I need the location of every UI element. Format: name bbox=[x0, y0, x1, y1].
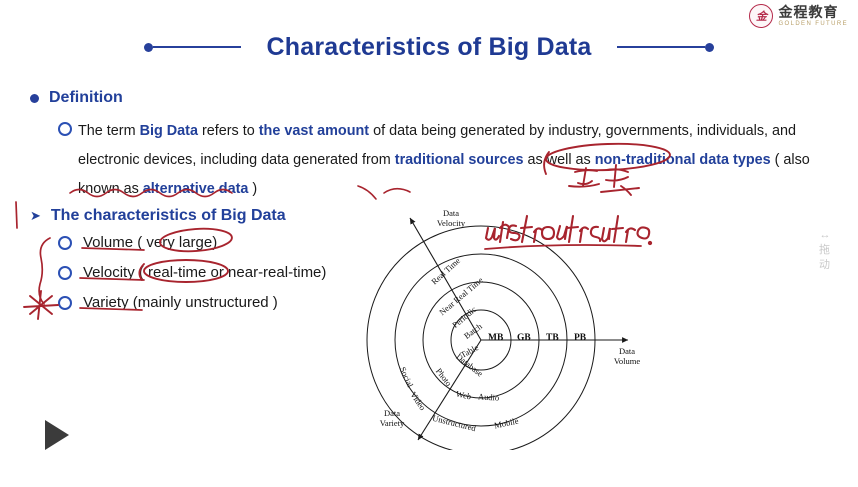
characteristics-heading: ➤ The characteristics of Big Data bbox=[30, 207, 286, 225]
definition-text: refers to bbox=[198, 123, 259, 139]
definition-text: The term bbox=[78, 123, 140, 139]
volume-tick-mb: MB bbox=[488, 333, 503, 343]
drag-arrows-icon: ↔ bbox=[819, 228, 830, 243]
list-item: Velocity ( real-time or near-real-time) bbox=[58, 264, 326, 281]
brand-logo: 金 金程教育 GOLDEN FUTURE bbox=[749, 4, 848, 28]
characteristics-heading-label: The characteristics of Big Data bbox=[51, 207, 286, 225]
bullet-ring-icon-definition bbox=[58, 122, 72, 136]
arrow-bullet-icon: ➤ bbox=[30, 208, 41, 224]
drag-label-1: 拖 bbox=[819, 243, 830, 258]
bullet-ring-icon bbox=[58, 236, 72, 250]
definition-emphasis: alternative data bbox=[143, 181, 249, 197]
list-item-label: Velocity ( real-time or near-real-time) bbox=[83, 264, 326, 281]
ink-bracket-left bbox=[16, 202, 17, 228]
variety-ring-audio: Audio bbox=[478, 391, 500, 402]
brand-name-cn: 金程教育 bbox=[778, 5, 848, 19]
bullet-ring-icon bbox=[58, 296, 72, 310]
definition-heading: Definition bbox=[30, 89, 123, 107]
page-title-row: Characteristics of Big Data bbox=[0, 28, 858, 66]
axis-label-volume: Data Volume bbox=[606, 346, 648, 366]
volume-tick-tb: TB bbox=[546, 333, 559, 343]
definition-text: ) bbox=[248, 181, 257, 197]
drag-handle[interactable]: ↔ 拖 动 bbox=[819, 228, 830, 273]
bullet-disc-icon bbox=[30, 94, 39, 103]
definition-emphasis: Big Data bbox=[140, 123, 198, 139]
definition-heading-label: Definition bbox=[49, 89, 123, 107]
volume-tick-pb: PB bbox=[574, 333, 586, 343]
list-item: Variety (mainly unstructured ) bbox=[58, 294, 278, 311]
definition-emphasis: traditional sources bbox=[395, 152, 524, 168]
brand-seal-icon: 金 bbox=[749, 4, 773, 28]
slide-canvas: 金 金程教育 GOLDEN FUTURE Characteristics of … bbox=[0, 0, 858, 487]
ink-star bbox=[24, 291, 58, 319]
definition-paragraph: The term Big Data refers to the vast amo… bbox=[78, 117, 810, 204]
drag-label-2: 动 bbox=[819, 258, 830, 273]
bullet-ring-icon bbox=[58, 266, 72, 280]
definition-emphasis: non-traditional data types bbox=[595, 152, 771, 168]
title-deco-right bbox=[617, 43, 714, 52]
axis-label-velocity: Data Velocity bbox=[428, 208, 474, 228]
list-item-label: Variety (mainly unstructured ) bbox=[83, 294, 278, 311]
brand-name-en: GOLDEN FUTURE bbox=[778, 21, 848, 27]
page-title: Characteristics of Big Data bbox=[241, 33, 618, 62]
ink-brace-bullets bbox=[39, 238, 50, 304]
play-button[interactable] bbox=[45, 420, 69, 450]
axis-label-variety: Data Variety bbox=[371, 408, 413, 428]
list-item: Volume ( very large) bbox=[58, 234, 217, 251]
list-item-label: Volume ( very large) bbox=[83, 234, 217, 251]
big-data-3v-diagram: MB GB TB PB Data Velocity Data Volume Da… bbox=[366, 200, 646, 450]
volume-tick-gb: GB bbox=[517, 333, 531, 343]
title-deco-left bbox=[144, 43, 241, 52]
definition-text: as well as bbox=[524, 152, 595, 168]
definition-emphasis: the vast amount bbox=[259, 123, 369, 139]
